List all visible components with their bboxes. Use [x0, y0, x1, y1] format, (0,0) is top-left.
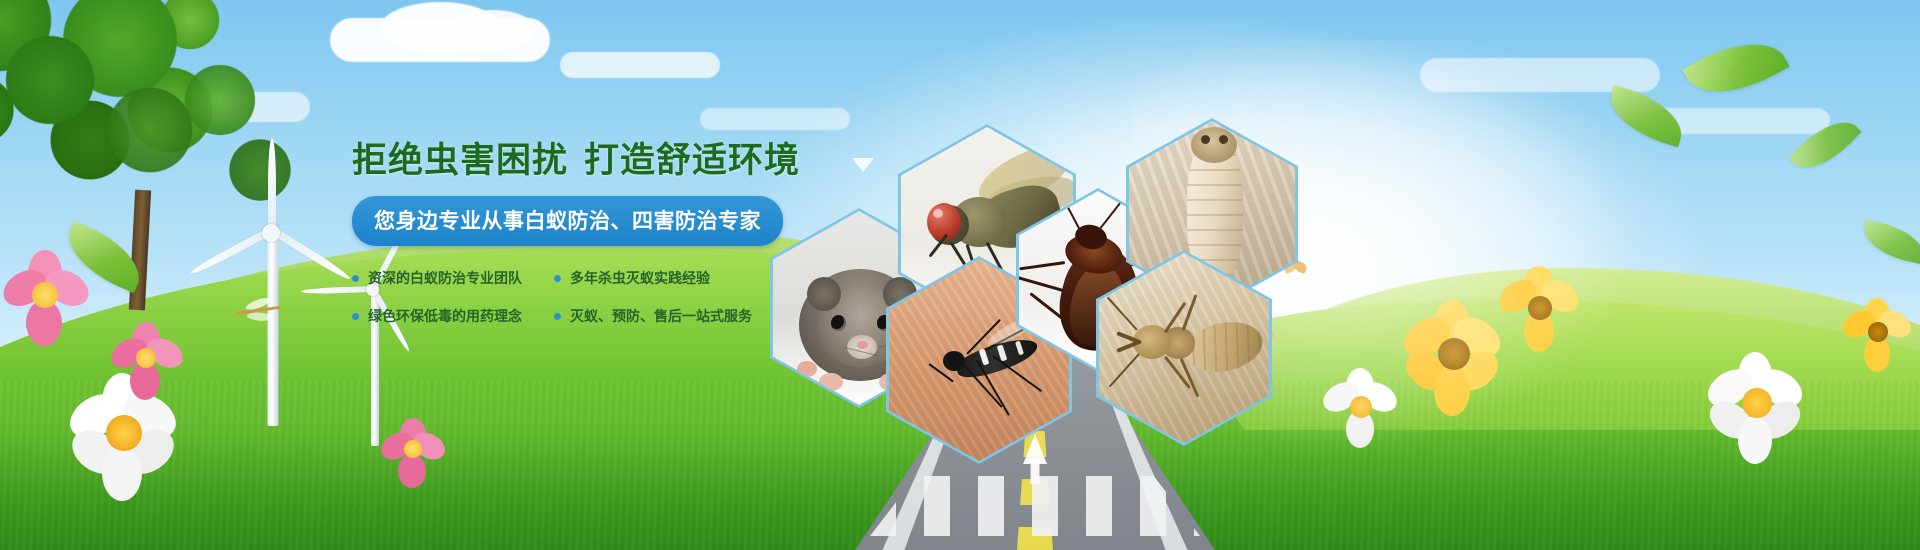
page-title: 拒绝虫害困扰打造舒适环境: [352, 140, 782, 182]
flower-yellow: [1494, 266, 1590, 362]
flower-pink: [380, 418, 460, 498]
flower-daisy: [1700, 352, 1820, 472]
hero-text-block: 拒绝虫害困扰打造舒适环境 您身边专业从事白蚁防治、四害防治专家 资深的白蚁防治专…: [352, 140, 782, 326]
pest-hexagon-cluster: [760, 110, 1380, 440]
bullet-label: 绿色环保低毒的用药理念: [368, 306, 522, 326]
flower-yellow: [1840, 298, 1920, 378]
feature-bullet-list: 资深的白蚁防治专业团队 多年杀虫灭蚁实践经验 绿色环保低毒的用药理念 灭蚁、预防…: [352, 268, 782, 326]
cloud-icon: [450, 10, 536, 50]
triangle-marker-icon: [852, 158, 874, 172]
cloud-icon: [560, 52, 720, 78]
headline-part-1: 拒绝虫害困扰: [352, 141, 568, 180]
list-item: 绿色环保低毒的用药理念: [352, 306, 554, 326]
flower-pink: [108, 322, 198, 412]
flower-pink: [0, 250, 110, 360]
subtitle-pill: 您身边专业从事白蚁防治、四害防治专家: [352, 196, 783, 246]
bullet-dot-icon: [352, 313, 359, 320]
windmill-tower: [268, 230, 279, 426]
bullet-dot-icon: [554, 275, 561, 282]
list-item: 灭蚁、预防、售后一站式服务: [554, 306, 764, 326]
list-item: 资深的白蚁防治专业团队: [352, 268, 554, 288]
road-arrow-stem: [1031, 458, 1040, 484]
bullet-label: 多年杀虫灭蚁实践经验: [570, 268, 710, 288]
bullet-dot-icon: [554, 313, 561, 320]
crosswalk-markings: [870, 476, 1200, 536]
headline-part-2: 打造舒适环境: [584, 141, 800, 180]
bullet-dot-icon: [352, 275, 359, 282]
windmill-hub: [262, 224, 280, 242]
bullet-label: 灭蚁、预防、售后一站式服务: [570, 306, 752, 326]
list-item: 多年杀虫灭蚁实践经验: [554, 268, 764, 288]
bullet-label: 资深的白蚁防治专业团队: [368, 268, 522, 288]
pest-control-hero-banner: ∿ ∿: [0, 0, 1920, 550]
windmill-blade: [268, 138, 276, 230]
